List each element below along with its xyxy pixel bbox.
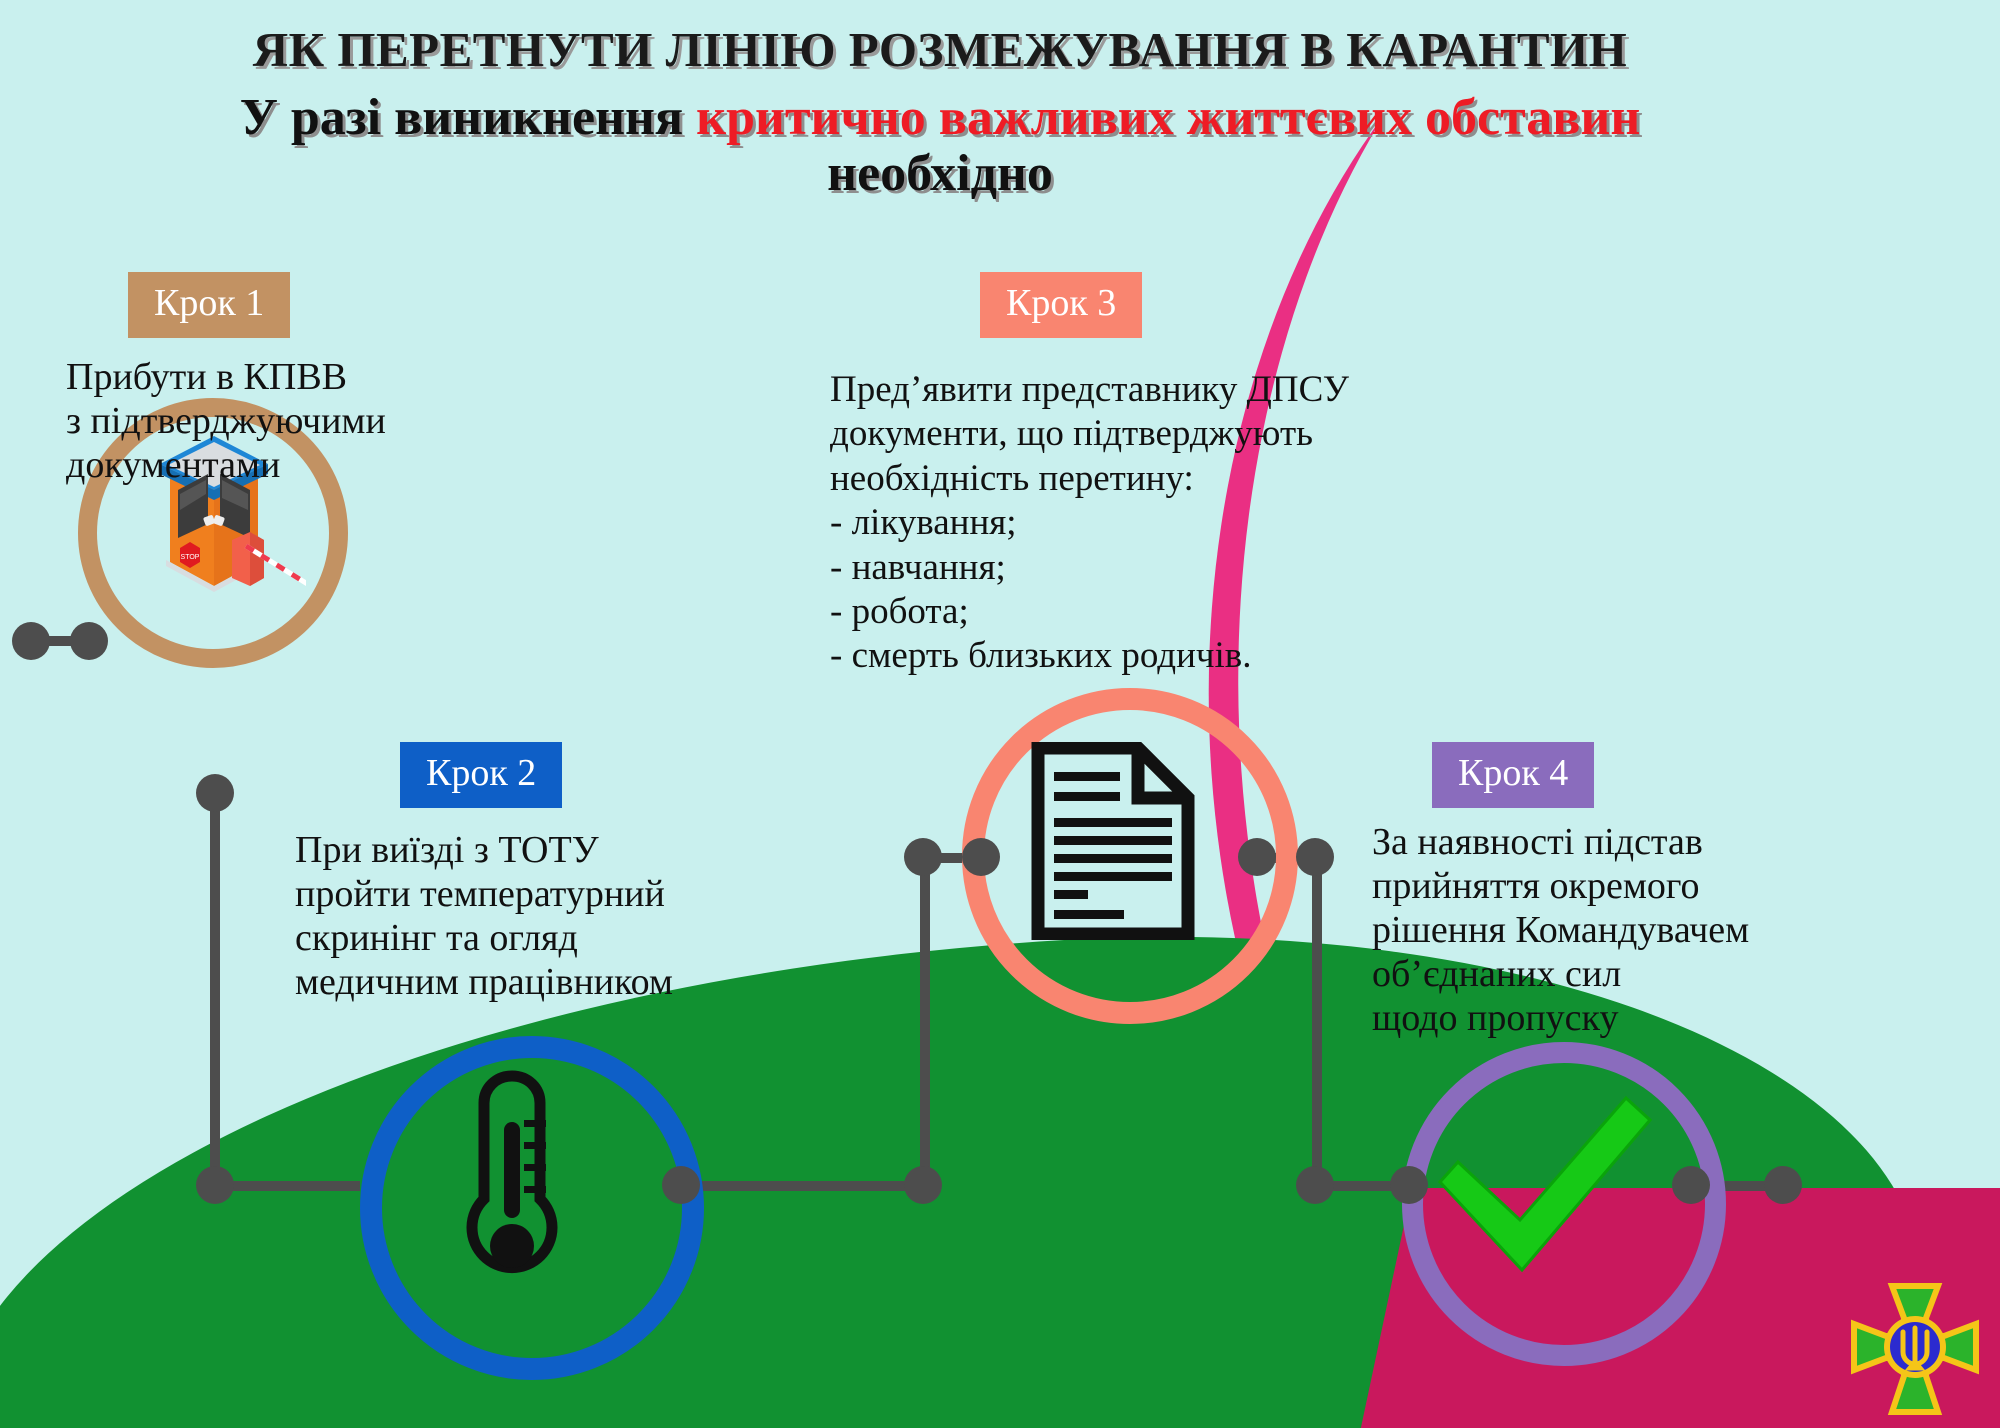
- step-badge-1[interactable]: Крок 1: [128, 272, 290, 338]
- subtitle-part1: У разі виникнення: [240, 89, 696, 146]
- header-block: ЯК ПЕРЕТНУТИ ЛІНІЮ РОЗМЕЖУВАННЯ В КАРАНТ…: [0, 24, 1880, 202]
- border-guard-service-emblem: [1840, 1276, 1990, 1426]
- document-icon: [1030, 742, 1198, 940]
- connector-line: [1312, 862, 1322, 1180]
- page-title: ЯК ПЕРЕТНУТИ ЛІНІЮ РОЗМЕЖУВАННЯ В КАРАНТ…: [0, 24, 1880, 76]
- connector-node: [70, 622, 108, 660]
- step-badge-2[interactable]: Крок 2: [400, 742, 562, 808]
- svg-text:STOP: STOP: [181, 554, 200, 561]
- connector-line: [680, 1181, 920, 1191]
- connector-node: [1390, 1166, 1428, 1204]
- step-text-2: При виїзді з ТОТУ пройти температурний с…: [295, 828, 673, 1004]
- connector-node: [962, 838, 1000, 876]
- connector-node: [1296, 838, 1334, 876]
- connector-line: [210, 790, 220, 1180]
- page-subtitle: У разі виникнення критично важливих житт…: [0, 90, 1880, 202]
- thermometer-icon: [458, 1070, 566, 1300]
- step-text-1: Прибути в КПВВ з підтверджуючими докумен…: [66, 355, 386, 487]
- connector-node: [12, 622, 50, 660]
- connector-node: [904, 1166, 942, 1204]
- connector-line: [214, 1181, 360, 1191]
- connector-node: [1764, 1166, 1802, 1204]
- connector-node: [196, 774, 234, 812]
- step-text-3: Пред’явити представнику ДПСУ документи, …: [830, 368, 1349, 679]
- step-badge-3[interactable]: Крок 3: [980, 272, 1142, 338]
- step-badge-4[interactable]: Крок 4: [1432, 742, 1594, 808]
- infographic-poster: ЯК ПЕРЕТНУТИ ЛІНІЮ РОЗМЕЖУВАННЯ В КАРАНТ…: [0, 0, 2000, 1428]
- connector-node: [196, 1166, 234, 1204]
- connector-node: [1238, 838, 1276, 876]
- subtitle-highlight: критично важливих життєвих обставин: [696, 89, 1640, 146]
- connector-node: [662, 1166, 700, 1204]
- connector-node: [1296, 1166, 1334, 1204]
- green-checkmark-icon: [1424, 1078, 1664, 1290]
- connector-line: [920, 862, 930, 1180]
- connector-node: [904, 838, 942, 876]
- step-text-4: За наявності підстав прийняття окремого …: [1372, 820, 1749, 1040]
- subtitle-part2: необхідно: [827, 145, 1053, 202]
- connector-node: [1672, 1166, 1710, 1204]
